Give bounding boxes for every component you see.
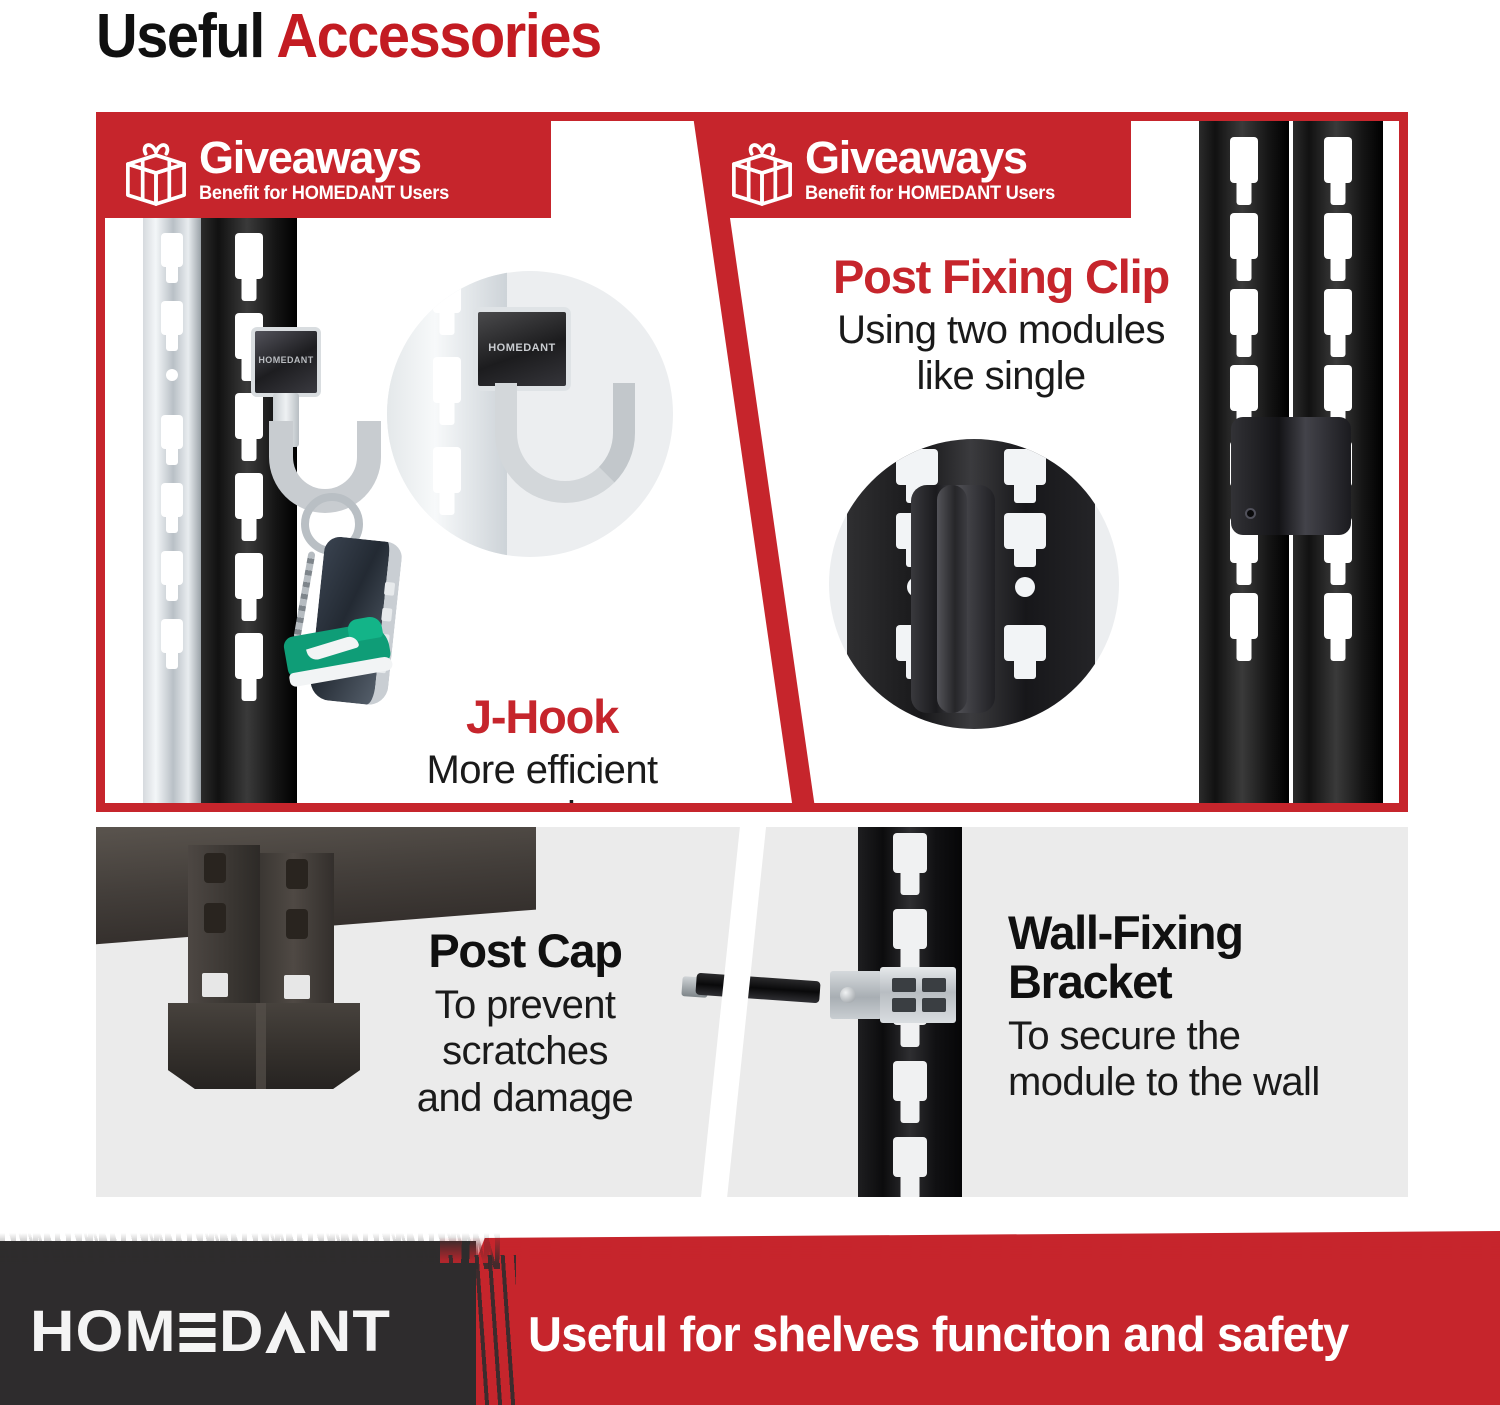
wall-fixing-description-line2: module to the wall <box>1008 1059 1400 1105</box>
post-slot <box>1230 137 1258 183</box>
footer-tagline: Useful for shelves funciton and safety <box>528 1307 1348 1363</box>
giveaways-title: Giveaways <box>199 136 459 180</box>
homedant-logo: HOM D NT <box>30 1303 391 1361</box>
silver-post-graphic <box>143 217 201 803</box>
j-hook-body: HOMEDANT <box>251 327 321 397</box>
post-fixing-clip-description: Using two modules like single <box>731 307 1271 400</box>
post-cap-text-block: Post Cap To prevent scratches and damage <box>352 927 698 1121</box>
logo-a-glyph-icon <box>264 1309 306 1355</box>
post-slot <box>235 553 263 599</box>
j-hook-magnifier-inset: HOMEDANT <box>387 271 673 557</box>
giveaways-subtitle: Benefit for HOMEDANT Users <box>199 184 449 203</box>
post-cap-description-line2: scratches <box>352 1028 698 1074</box>
post-fixing-clip-magnified <box>911 485 995 713</box>
j-hook-brand-label: HOMEDANT <box>255 355 317 365</box>
post-slot <box>161 301 183 335</box>
post-slot <box>161 551 183 585</box>
post-fixing-clip-description-line1: Using two modules <box>731 307 1271 353</box>
post-slot <box>433 357 461 403</box>
post-slot <box>1324 289 1352 335</box>
j-hook-magnified-brand-label: HOMEDANT <box>478 342 566 354</box>
page-title-part-accessories: Accessories <box>276 2 600 71</box>
post-slot <box>893 833 927 873</box>
wall-fixing-description-line1: To secure the <box>1008 1013 1400 1059</box>
post-slot <box>1324 365 1352 411</box>
footer-grunge-seam <box>446 1255 516 1405</box>
logo-e-glyph-icon <box>180 1311 216 1353</box>
footer-grunge-texture-red <box>440 1237 1500 1263</box>
post-slot <box>893 1061 927 1101</box>
post-slot <box>1324 593 1352 639</box>
post-slot <box>433 271 461 313</box>
wall-fixing-description: To secure the module to the wall <box>1008 1013 1400 1106</box>
j-hook-heading: J-Hook <box>377 693 705 741</box>
bottom-diagonal-divider <box>697 827 769 1197</box>
j-hook-text-block: J-Hook More efficient organize <box>377 693 705 803</box>
post-slot <box>235 233 263 279</box>
giveaways-subtitle: Benefit for HOMEDANT Users <box>805 184 1055 203</box>
post-slot <box>235 633 263 679</box>
post-fixing-clip-magnifier-inset <box>829 439 1119 729</box>
wall-fixing-bracket-part <box>802 967 956 1023</box>
post-round-hole <box>1015 577 1035 597</box>
footer-bar: HOM D NT Useful for shelves funciton and… <box>0 1215 1500 1405</box>
top-feature-box: HOMEDANT <box>96 112 1408 812</box>
post-round-hole <box>166 369 178 381</box>
post-fixing-clip-description-line2: like single <box>731 353 1271 399</box>
post-slot <box>1004 449 1046 485</box>
post-slot <box>1230 593 1258 639</box>
gift-box-icon <box>119 133 193 207</box>
bottom-feature-box: Post Cap To prevent scratches and damage <box>96 827 1408 1197</box>
giveaways-title: Giveaways <box>805 136 1065 180</box>
post-slot <box>1324 137 1352 183</box>
post-slot <box>161 483 183 517</box>
j-hook-magnified-body: HOMEDANT <box>473 307 571 391</box>
post-slot <box>433 447 461 493</box>
post-cap-heading: Post Cap <box>352 927 698 976</box>
footer-grunge-texture-dark <box>0 1233 500 1269</box>
post-slot <box>1004 513 1046 549</box>
logo-text-part1: HOM <box>30 1303 177 1361</box>
post-fixing-clip-heading: Post Fixing Clip <box>731 253 1271 301</box>
post-fixing-clip-text-block: Post Fixing Clip Using two modules like … <box>731 253 1271 400</box>
post-slot <box>161 233 183 267</box>
wall-fixing-text-block: Wall-Fixing Bracket To secure the module… <box>1008 909 1400 1106</box>
j-hook-description-line1: More efficient <box>377 747 705 793</box>
post-slot <box>893 909 927 949</box>
j-hook-description: More efficient organize <box>377 747 705 803</box>
wall-fixing-heading-line2: Bracket <box>1008 958 1400 1007</box>
post-cap-description-line3: and damage <box>352 1075 698 1121</box>
black-post-graphic <box>201 217 297 803</box>
post-slot <box>1324 213 1352 259</box>
post-slot <box>893 1137 927 1177</box>
post-slot <box>235 393 263 439</box>
logo-text-part3: NT <box>307 1303 391 1361</box>
giveaways-banner-left: Giveaways Benefit for HOMEDANT Users <box>105 121 551 218</box>
post-slot <box>235 473 263 519</box>
panel-post-fixing-clip: Giveaways Benefit for HOMEDANT Users Pos… <box>697 121 1399 803</box>
j-hook-description-line2: organize <box>377 793 705 803</box>
post-slot <box>896 449 938 485</box>
page-title-part-useful: Useful <box>96 2 276 71</box>
post-fixing-clip-on-posts <box>1231 417 1351 535</box>
post-cap-description: To prevent scratches and damage <box>352 982 698 1121</box>
j-hook-magnified-curve <box>495 383 635 503</box>
post-slot <box>161 619 183 653</box>
gift-box-icon <box>725 133 799 207</box>
post-slot <box>161 415 183 449</box>
wall-fixing-heading-line1: Wall-Fixing <box>1008 909 1400 958</box>
panel-j-hook: HOMEDANT <box>105 121 705 803</box>
wall-fixing-heading: Wall-Fixing Bracket <box>1008 909 1400 1007</box>
page-title: Useful Accessories <box>96 6 601 68</box>
logo-text-part2: D <box>219 1303 264 1361</box>
post-slot <box>1004 625 1046 661</box>
giveaways-banner-right: Giveaways Benefit for HOMEDANT Users <box>711 121 1131 218</box>
post-cap-description-line1: To prevent <box>352 982 698 1028</box>
